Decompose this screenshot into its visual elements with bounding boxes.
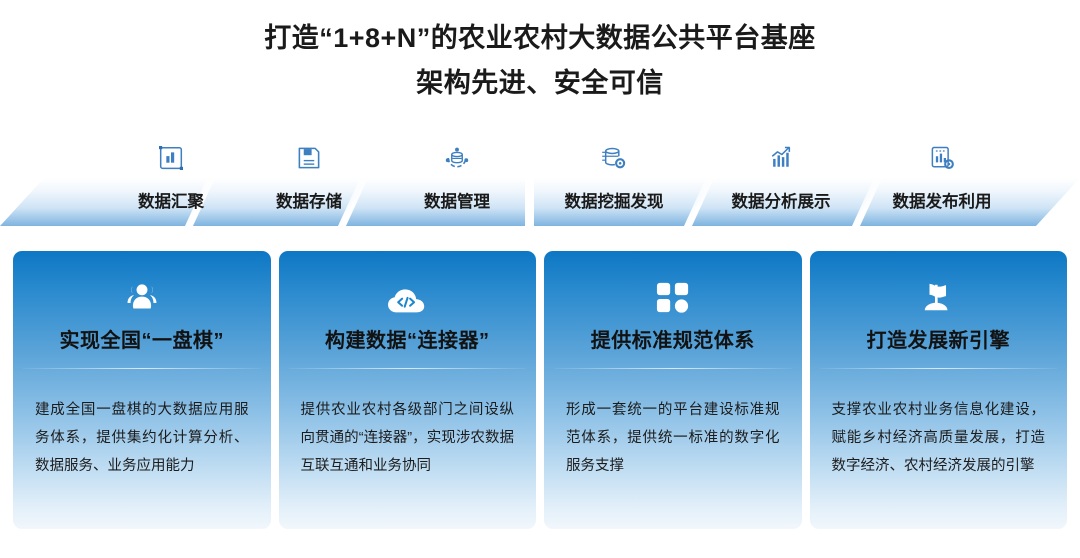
banner-item-label: 数据管理 — [392, 178, 522, 226]
banner-item-label: 数据挖掘发现 — [534, 178, 694, 226]
feature-card-new-engine[interactable]: 打造发展新引擎 支撑农业农村业务信息化建设，赋能乡村经济高质量发展，打造数字经济… — [810, 251, 1068, 529]
banner-divider-3 — [525, 178, 534, 226]
card-body-text: 支撑农业农村业务信息化建设，赋能乡村经济高质量发展，打造数字经济、农村经济发展的… — [832, 396, 1046, 480]
page-title-line-1: 打造“1+8+N”的农业农村大数据公共平台基座 — [0, 16, 1080, 61]
feature-card-standards-system[interactable]: 提供标准规范体系 形成一套统一的平台建设标准规范体系，提供统一标准的数字化服务支… — [544, 251, 802, 529]
flag-icon — [810, 251, 1068, 315]
banner-item-data-publishing[interactable]: 数据发布利用 — [862, 140, 1022, 226]
grid-squares-icon — [544, 251, 802, 315]
banner-item-data-aggregation[interactable]: 数据汇聚 — [106, 140, 236, 226]
people-icon — [13, 251, 271, 315]
card-body-text: 形成一套统一的平台建设标准规范体系，提供统一标准的数字化服务支撑 — [566, 396, 780, 480]
process-banner: 数据汇聚 数据存储 数据管理 — [0, 140, 1080, 230]
card-body-text: 建成全国一盘棋的大数据应用服务体系，提供集约化计算分析、数据服务、业务应用能力 — [35, 396, 249, 480]
banner-item-label: 数据发布利用 — [862, 178, 1022, 226]
card-title: 实现全国“一盘棋” — [13, 324, 271, 353]
floppy-disk-icon — [244, 140, 374, 176]
card-divider — [23, 368, 261, 369]
banner-item-label: 数据分析展示 — [701, 178, 861, 226]
database-nodes-icon — [392, 140, 522, 176]
banner-item-label: 数据存储 — [244, 178, 374, 226]
card-title: 提供标准规范体系 — [544, 324, 802, 353]
banner-item-data-mining[interactable]: 数据挖掘发现 — [534, 140, 694, 226]
card-body-text: 提供农业农村各级部门之间设纵向贯通的“连接器”，实现涉农数据互联互通和业务协同 — [301, 396, 515, 480]
banner-item-label: 数据汇聚 — [106, 178, 236, 226]
banner-item-data-storage[interactable]: 数据存储 — [244, 140, 374, 226]
feature-card-data-connector[interactable]: 构建数据“连接器” 提供农业农村各级部门之间设纵向贯通的“连接器”，实现涉农数据… — [279, 251, 537, 529]
card-title: 打造发展新引擎 — [810, 324, 1068, 353]
page-title-line-2: 架构先进、安全可信 — [0, 61, 1080, 106]
page-title: 打造“1+8+N”的农业农村大数据公共平台基座 架构先进、安全可信 — [0, 16, 1080, 106]
banner-item-data-analysis[interactable]: 数据分析展示 — [701, 140, 861, 226]
card-divider — [820, 368, 1058, 369]
banner-item-data-management[interactable]: 数据管理 — [392, 140, 522, 226]
database-gear-icon — [534, 140, 694, 176]
feature-card-national-chess[interactable]: 实现全国“一盘棋” 建成全国一盘棋的大数据应用服务体系，提供集约化计算分析、数据… — [13, 251, 271, 529]
bar-chart-frame-icon — [106, 140, 236, 176]
feature-cards: 实现全国“一盘棋” 建成全国一盘棋的大数据应用服务体系，提供集约化计算分析、数据… — [13, 251, 1067, 529]
trending-chart-icon — [701, 140, 861, 176]
card-divider — [289, 368, 527, 369]
report-gear-icon — [862, 140, 1022, 176]
card-divider — [554, 368, 792, 369]
card-title: 构建数据“连接器” — [279, 324, 537, 353]
cloud-code-icon — [279, 251, 537, 315]
